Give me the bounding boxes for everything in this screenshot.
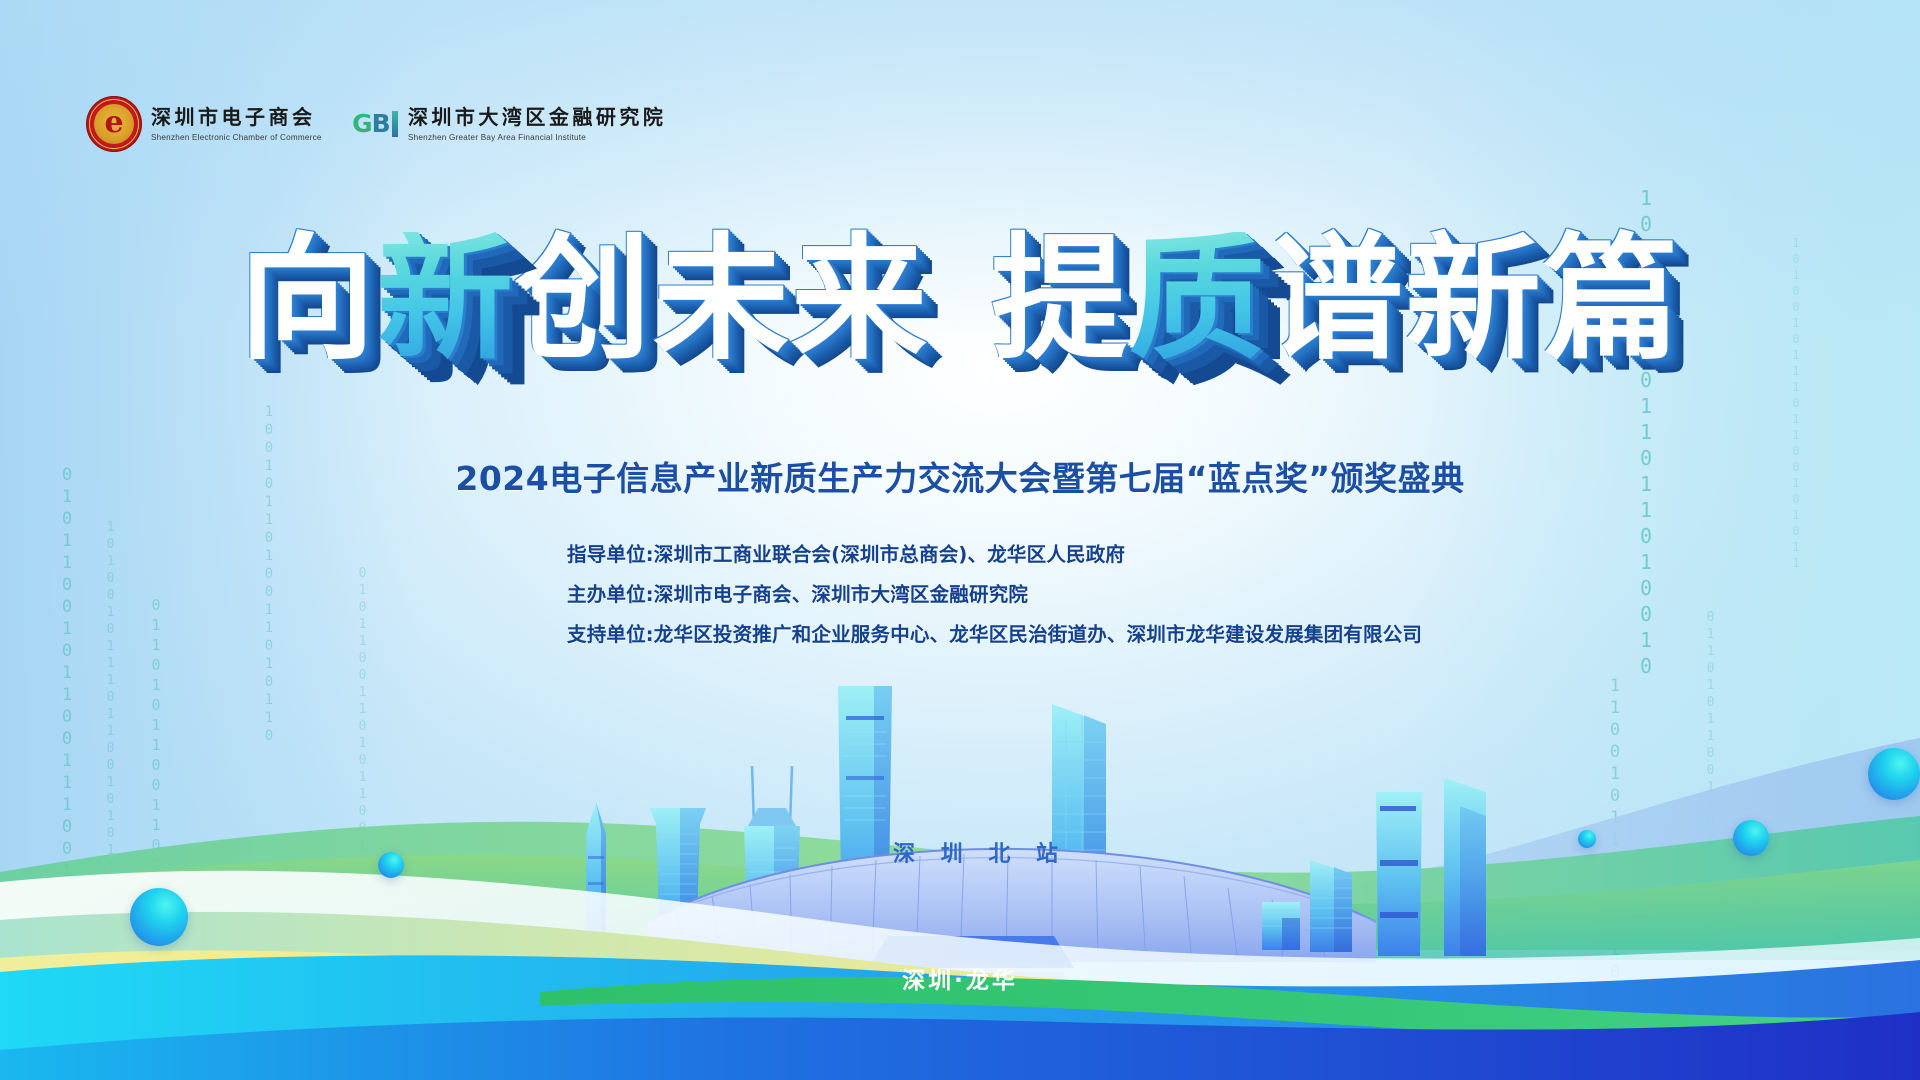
poster-canvas: 010110010110011100101 101001011101100101… — [0, 0, 1920, 1080]
organizer-guidance: 指导单位:深圳市工商业联合会(深圳市总商会)、龙华区人民政府 — [567, 538, 1353, 567]
decorative-sphere — [1578, 830, 1596, 848]
station-label: 深 圳 北 站 — [893, 836, 1067, 868]
building-band — [588, 882, 604, 885]
headline-char: 未 — [653, 232, 791, 368]
place-label: 深圳·龙华 — [0, 961, 1920, 995]
headline-char-accent: 新 — [377, 232, 515, 368]
headline-char: 来 — [791, 232, 929, 368]
logo-name-cn: 深圳市电子商会 — [151, 106, 327, 128]
organizer-host: 主办单位:深圳市电子商会、深圳市大湾区金融研究院 — [567, 578, 1353, 607]
building-twin-crown — [748, 808, 796, 826]
building-low-shade — [1282, 918, 1300, 950]
logo-name-cn: 深圳市大湾区金融研究院 — [408, 106, 667, 128]
building-band — [588, 856, 604, 859]
headline: 向新创未来提质谱新篇 — [0, 232, 1920, 368]
event-subtitle: 2024电子信息产业新质生产力交流大会暨第七届“蓝点奖”颁奖盛典 — [0, 452, 1920, 500]
sponsor-logo-row: e 深圳市电子商会 Shenzhen Electronic Chamber of… — [86, 96, 666, 152]
building-slanted-shade — [1460, 806, 1486, 956]
gbi-monogram-icon: GB — [351, 107, 399, 141]
building-angled-shade — [1334, 867, 1352, 952]
headline-char: 谱 — [1267, 232, 1405, 368]
logo-gba-financial-institute: GB 深圳市大湾区金融研究院 Shenzhen Greater Bay Area… — [351, 106, 667, 141]
headline-char: 创 — [515, 232, 653, 368]
seal-letter-e: e — [86, 96, 142, 152]
logo-text-block: 深圳市电子商会 Shenzhen Electronic Chamber of C… — [151, 106, 327, 141]
decorative-sphere — [130, 888, 188, 946]
logo-text-block: 深圳市大湾区金融研究院 Shenzhen Greater Bay Area Fi… — [408, 106, 667, 141]
gbi-letter-g: G — [352, 111, 372, 136]
decorative-sphere — [378, 852, 404, 878]
logo-name-en: Shenzhen Electronic Chamber of Commerce — [151, 132, 322, 142]
decorative-sphere — [1868, 748, 1920, 800]
headline-char: 篇 — [1543, 232, 1681, 368]
red-seal-icon: e — [86, 96, 142, 152]
building-band — [1380, 912, 1418, 918]
headline-char-accent: 质 — [1129, 232, 1267, 368]
headline-char: 向 — [239, 232, 377, 368]
headline-char: 提 — [991, 232, 1129, 368]
logo-name-en: Shenzhen Greater Bay Area Financial Inst… — [408, 132, 659, 142]
decorative-sphere — [1733, 820, 1769, 856]
gbi-letter-b: B — [372, 111, 390, 136]
gbi-bar — [392, 111, 398, 137]
building-band — [1380, 860, 1418, 866]
building-band — [1380, 806, 1416, 811]
headline-char: 新 — [1405, 232, 1543, 368]
building-band — [846, 776, 884, 780]
logo-shenzhen-electronic-chamber: e 深圳市电子商会 Shenzhen Electronic Chamber of… — [86, 96, 327, 152]
building-band — [846, 716, 884, 720]
building-tall-right — [1376, 792, 1422, 956]
